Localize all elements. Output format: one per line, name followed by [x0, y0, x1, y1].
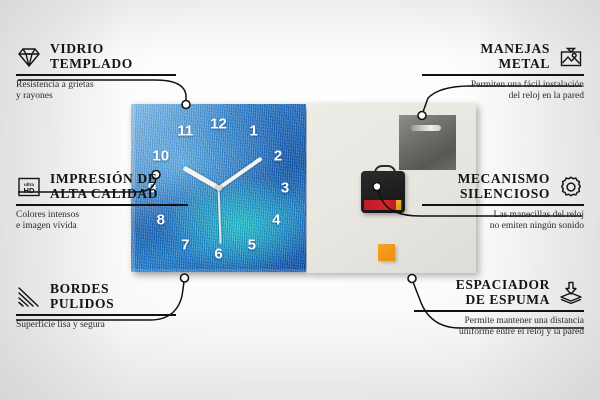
feature-underline: [16, 74, 176, 76]
feature-title: ESPACIADOR DE ESPUMA: [414, 278, 550, 307]
feature-impresion-alta-calidad[interactable]: ultra HD IMPRESIÓN DE ALTA CALIDAD Color…: [16, 172, 188, 233]
feature-title: VIDRIO TEMPLADO: [50, 42, 133, 71]
feature-description: Resistencia a grietas y rayones: [16, 80, 176, 103]
feature-header: MANEJAS METAL: [422, 42, 584, 71]
feature-underline: [422, 204, 584, 206]
infographic-canvas: 12 1 2 3 4 5 6 7 8 9 10 11: [0, 0, 600, 400]
feature-header: VIDRIO TEMPLADO: [16, 42, 176, 71]
gear-icon: [558, 174, 584, 200]
feature-espaciador-espuma[interactable]: ESPACIADOR DE ESPUMA Permite mantener un…: [414, 278, 584, 339]
feature-description: Superficie lisa y segura: [16, 320, 176, 332]
feature-description: Colores intensos e imagen vívida: [16, 210, 188, 233]
feature-underline: [16, 314, 176, 316]
feature-manejas-metal[interactable]: MANEJAS METAL Permiten una fácil instala…: [422, 42, 584, 103]
feature-underline: [422, 74, 584, 76]
feature-mecanismo-silencioso[interactable]: MECANISMO SILENCIOSO Las manecillas del …: [422, 172, 584, 233]
feature-vidrio-templado[interactable]: VIDRIO TEMPLADO Resistencia a grietas y …: [16, 42, 176, 103]
feature-underline: [414, 310, 584, 312]
feature-underline: [16, 204, 188, 206]
framed-picture-icon: [558, 44, 584, 70]
feature-title: MECANISMO SILENCIOSO: [422, 172, 550, 201]
feature-title: IMPRESIÓN DE ALTA CALIDAD: [50, 172, 158, 201]
svg-text:HD: HD: [24, 186, 35, 195]
feature-description: Permite mantener una distancia uniforme …: [414, 316, 584, 339]
diamond-icon: [16, 44, 42, 70]
feature-header: ESPACIADOR DE ESPUMA: [414, 278, 584, 307]
feature-description: Permiten una fácil instalación del reloj…: [422, 80, 584, 103]
ultra-hd-badge-icon: ultra HD: [16, 174, 42, 200]
feature-header: MECANISMO SILENCIOSO: [422, 172, 584, 201]
feature-description: Las manecillas del reloj no emiten ningú…: [422, 210, 584, 233]
feature-title: BORDES PULIDOS: [50, 282, 114, 311]
feature-header: BORDES PULIDOS: [16, 282, 176, 311]
feature-header: ultra HD IMPRESIÓN DE ALTA CALIDAD: [16, 172, 188, 201]
feature-title: MANEJAS METAL: [422, 42, 550, 71]
feature-bordes-pulidos[interactable]: BORDES PULIDOS Superficie lisa y segura: [16, 282, 176, 331]
foam-spacer-icon: [558, 280, 584, 306]
polished-edges-icon: [16, 284, 42, 310]
